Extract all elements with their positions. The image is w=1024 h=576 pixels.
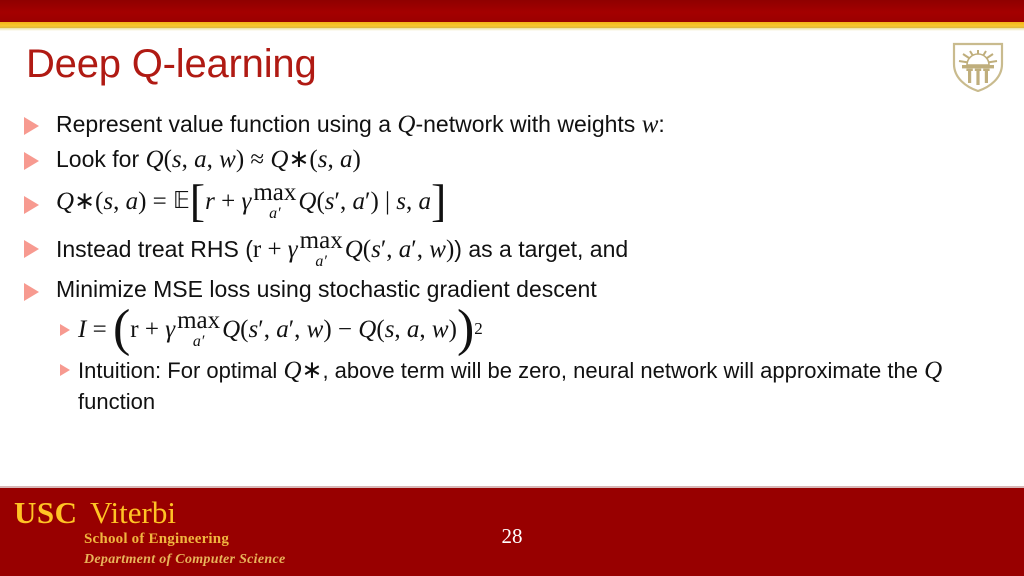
equation-q-star: Q∗(s, a) = 𝔼[r + γmaxa′Q(s′, a′) | s, a] bbox=[56, 178, 446, 224]
list-item: Intuition: For optimal Q∗, above term wi… bbox=[0, 354, 1024, 416]
bullet-text-1: Represent value function using a Q-netwo… bbox=[56, 108, 665, 141]
triangle-bullet-icon bbox=[24, 152, 39, 170]
equation-loss: I = (r + γmaxa′Q(s′, a′, w) − Q(s, a, w)… bbox=[78, 306, 483, 352]
header-gold-fade bbox=[0, 28, 1024, 31]
list-item: Represent value function using a Q-netwo… bbox=[0, 108, 1024, 141]
list-item: Q∗(s, a) = 𝔼[r + γmaxa′Q(s′, a′) | s, a] bbox=[0, 178, 1024, 224]
bullet-text-5: Minimize MSE loss using stochastic gradi… bbox=[56, 274, 597, 304]
list-item: Look for Q(s, a, w) ≈ Q∗(s, a) bbox=[0, 143, 1024, 176]
bullet-text-intuition: Intuition: For optimal Q∗, above term wi… bbox=[78, 354, 978, 416]
list-item: Minimize MSE loss using stochastic gradi… bbox=[0, 274, 1024, 304]
page-title: Deep Q-learning bbox=[26, 42, 317, 86]
bullet-text-2: Look for Q(s, a, w) ≈ Q∗(s, a) bbox=[56, 143, 361, 176]
list-item: Instead treat RHS (r + γmaxa′Q(s′, a′, w… bbox=[0, 226, 1024, 272]
slide-body: Represent value function using a Q-netwo… bbox=[0, 108, 1024, 418]
department-name: Department of Computer Science bbox=[84, 552, 286, 568]
small-triangle-bullet-icon bbox=[60, 324, 70, 336]
triangle-bullet-icon bbox=[24, 117, 39, 135]
small-triangle-bullet-icon bbox=[60, 364, 70, 376]
list-item: I = (r + γmaxa′Q(s′, a′, w) − Q(s, a, w)… bbox=[0, 306, 1024, 352]
usc-shield-crest-icon bbox=[950, 42, 1006, 92]
triangle-bullet-icon bbox=[24, 196, 39, 214]
bullet-text-4: Instead treat RHS (r + γmaxa′Q(s′, a′, w… bbox=[56, 226, 628, 272]
triangle-bullet-icon bbox=[24, 283, 39, 301]
triangle-bullet-icon bbox=[24, 240, 39, 258]
header-red-band bbox=[0, 0, 1024, 22]
page-number: 28 bbox=[0, 524, 1024, 549]
